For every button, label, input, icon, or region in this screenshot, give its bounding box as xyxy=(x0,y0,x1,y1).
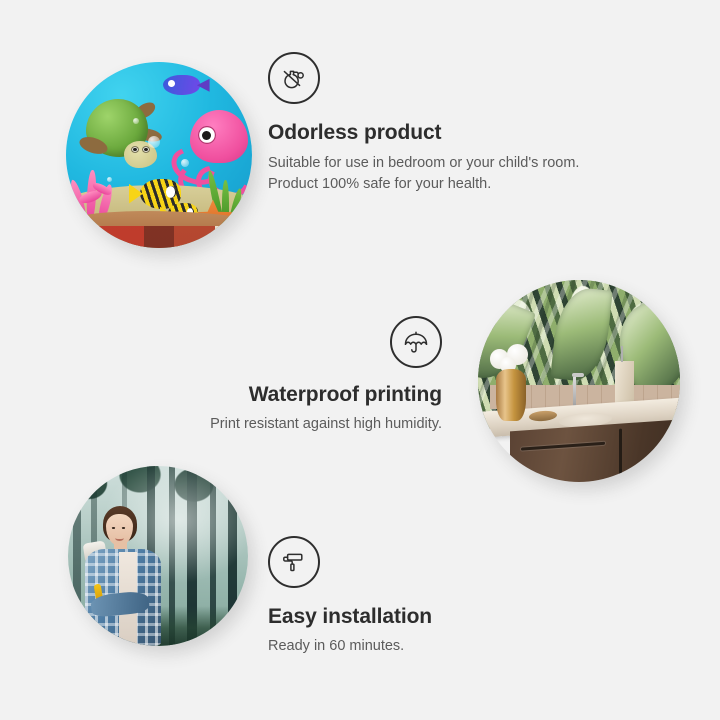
sea-floor-foreground xyxy=(66,226,252,248)
feature-description: Print resistant against high humidity. xyxy=(150,414,442,435)
bathroom-tropical-wallpaper-photo[interactable] xyxy=(478,280,680,482)
forest-scene xyxy=(68,466,248,646)
gold-vase xyxy=(496,369,526,422)
underwater-scene xyxy=(66,62,252,248)
feature-description: Ready in 60 minutes. xyxy=(268,636,568,657)
feature-installation: Easy installation Ready in 60 minutes. xyxy=(268,536,568,657)
cartoon-underwater-mural-photo[interactable] xyxy=(66,62,252,248)
bathroom-scene xyxy=(478,280,680,482)
bubble xyxy=(133,118,139,124)
feature-description: Suitable for use in bedroom or your chil… xyxy=(268,153,608,195)
paint-roller-icon xyxy=(268,536,320,588)
bubble xyxy=(181,159,189,167)
octopus-eye xyxy=(198,126,215,144)
feature-title: Waterproof printing xyxy=(150,382,442,407)
feature-odorless: Odorless product Suitable for use in bed… xyxy=(268,52,608,195)
promo-canvas: Odorless product Suitable for use in bed… xyxy=(0,0,720,720)
woman-smile xyxy=(115,535,124,541)
woman-paint-roller-forest-photo[interactable] xyxy=(68,466,248,646)
wood-vanity-cabinet xyxy=(510,419,680,482)
umbrella-icon xyxy=(390,316,442,368)
vanity-door-handle xyxy=(619,429,622,482)
no-odor-spray-bottle-icon xyxy=(268,52,320,104)
blue-fish xyxy=(163,75,200,95)
woman-eye xyxy=(122,527,126,529)
turtle-eye xyxy=(131,146,140,153)
woman-eye xyxy=(112,527,116,529)
octopus-head xyxy=(190,110,248,163)
feature-title: Easy installation xyxy=(268,604,568,629)
woman-with-paint-roller xyxy=(79,506,180,646)
feature-waterproof: Waterproof printing Print resistant agai… xyxy=(150,316,442,435)
feature-title: Odorless product xyxy=(268,120,608,145)
turtle-eye xyxy=(142,146,151,153)
